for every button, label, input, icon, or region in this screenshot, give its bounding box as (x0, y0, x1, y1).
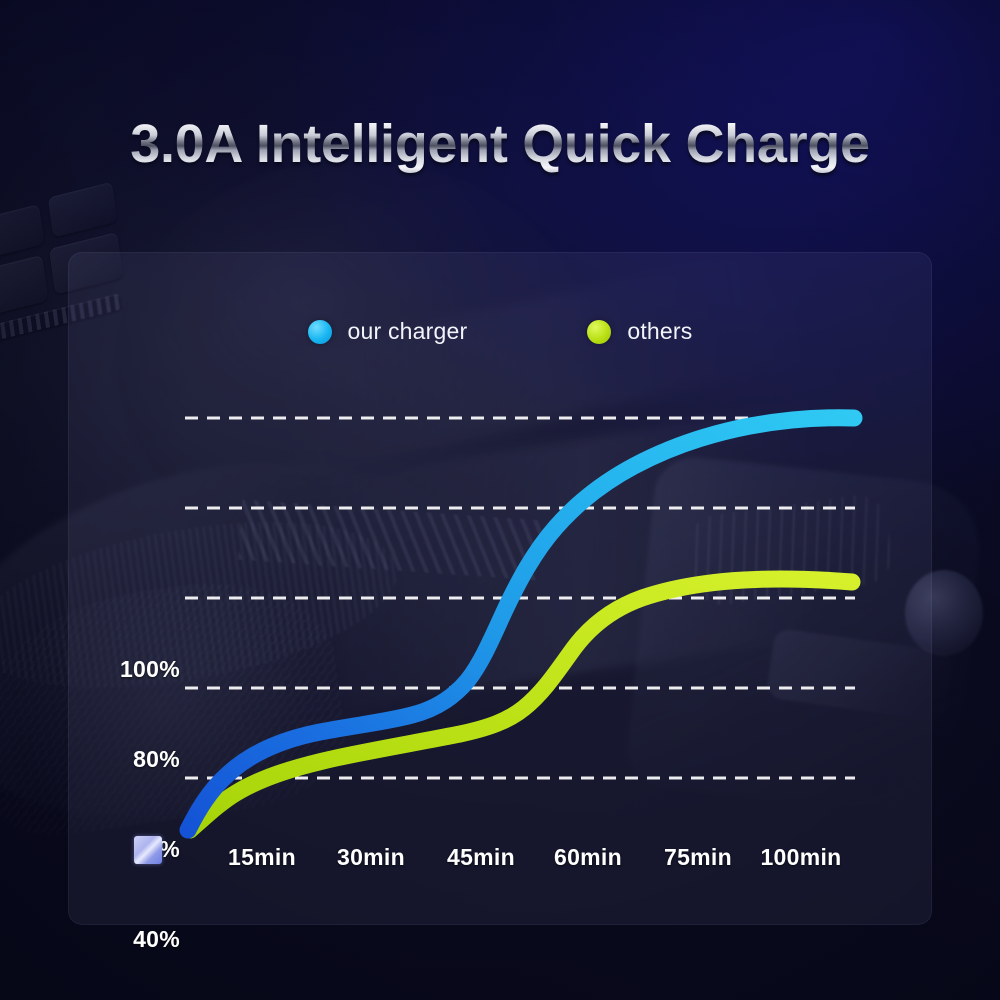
line-chart-plot: 100% 80% 60% 40% 20% 15min 30min 45min 6… (68, 252, 932, 925)
page-title-text: 3.0A Intelligent Quick Charge (0, 113, 1000, 175)
y-axis-label-100: 100% (88, 656, 180, 683)
chart-svg (68, 252, 932, 925)
x-axis-label-75min: 75min (638, 844, 758, 871)
x-axis-label-45min: 45min (421, 844, 541, 871)
y-axis-label-40: 40% (88, 926, 180, 953)
chart-legend: our charger others (68, 318, 932, 345)
circle-dot-icon (587, 320, 611, 344)
gradient-square-icon (134, 836, 162, 864)
y-axis-label-80: 80% (88, 746, 180, 773)
x-axis-label-60min: 60min (528, 844, 648, 871)
legend-item-our-charger[interactable]: our charger (308, 318, 468, 345)
legend-label-our-charger: our charger (348, 318, 468, 345)
x-axis-label-30min: 30min (311, 844, 431, 871)
page-title: 3.0A Intelligent Quick Charge 3.0A Intel… (0, 113, 1000, 175)
legend-label-others: others (627, 318, 692, 345)
chart-panel: our charger others (68, 252, 932, 925)
x-axis-label-15min: 15min (202, 844, 322, 871)
x-axis-label-100min: 100min (741, 844, 861, 871)
legend-item-others[interactable]: others (587, 318, 692, 345)
circle-dot-icon (308, 320, 332, 344)
series-line-others (190, 579, 852, 830)
